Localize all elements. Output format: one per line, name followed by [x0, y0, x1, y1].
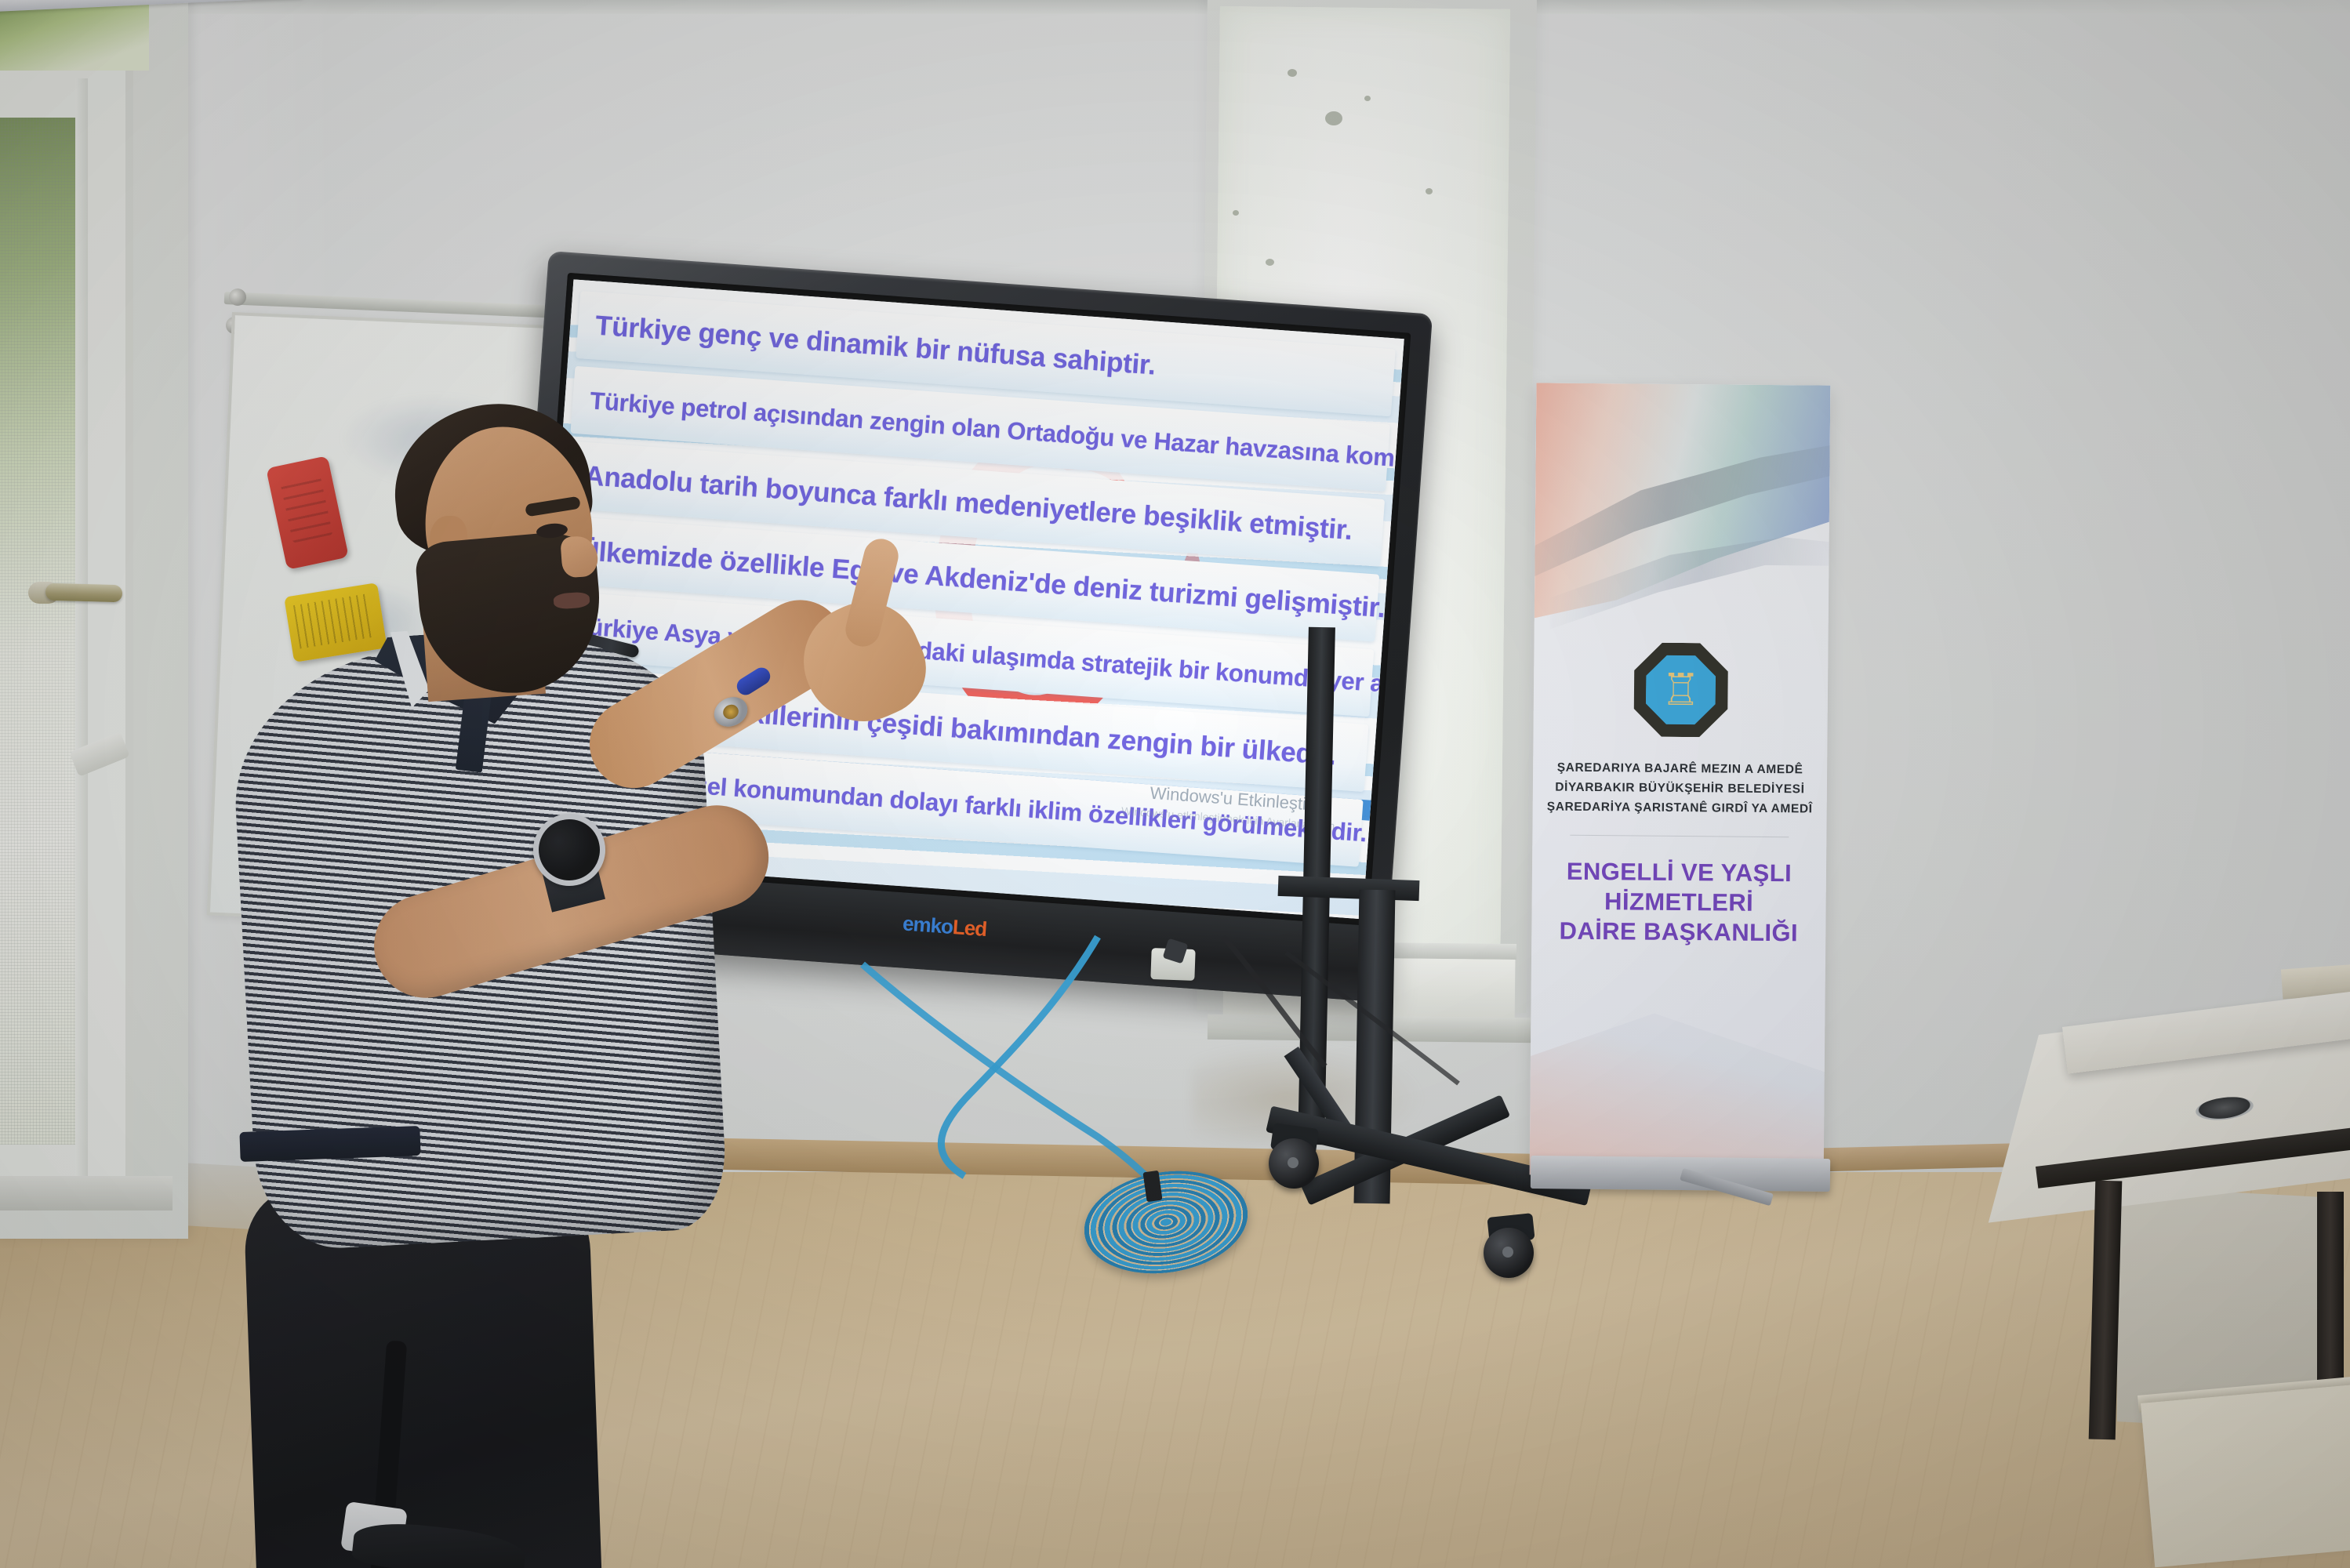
- emblem-eagle-icon: ♖: [1661, 668, 1701, 712]
- brand-em-text: emko: [902, 911, 953, 938]
- left-window-handle[interactable]: [45, 583, 123, 603]
- stand-caster: [1269, 1138, 1319, 1189]
- window-speck: [1233, 210, 1239, 216]
- whiteboard-rail-bolt: [229, 289, 246, 306]
- display-brand-logo: emkoLed: [902, 911, 987, 942]
- window-speck: [1426, 188, 1433, 194]
- left-window-mullion: [75, 78, 88, 1192]
- window-speck: [1325, 111, 1342, 125]
- left-window-transom-glass: [0, 0, 149, 71]
- double-headed-eagle-emblem: ♖: [1633, 642, 1728, 737]
- brand-led-text: Led: [952, 915, 987, 941]
- banner-bottom-swoosh: [1530, 955, 1825, 1177]
- window-speck: [1266, 259, 1274, 266]
- banner-base-cassette: [1531, 1156, 1830, 1192]
- photo-scene: Türkiye genç ve dinamik bir nüfusa sahip…: [0, 0, 2350, 1568]
- presenter-nose: [560, 535, 599, 578]
- left-window-glass: [0, 118, 83, 1145]
- foreground-desk-top: [2141, 1382, 2350, 1567]
- rollup-banner: ♖ ŞAREDARIYA BAJARÊ MEZIN A AMEDÊ DİYARB…: [1530, 383, 1831, 1177]
- presenter-sleeve-hem: [239, 1126, 420, 1162]
- banner-title-line: DAİRE BAŞKANLIĞI: [1531, 916, 1825, 948]
- window-speck: [1364, 96, 1371, 101]
- banner-subtitle-line: ŞAREDARIYA BAJARÊ MEZIN A AMEDÊ: [1533, 757, 1827, 779]
- banner-subtitle-line: ŞAREDARİYA ŞARISTANÊ GIRDÎ YA AMEDÎ: [1533, 797, 1827, 819]
- banner-divider: [1570, 835, 1789, 837]
- banner-title-line: HİZMETLERİ: [1531, 886, 1825, 918]
- banner-subtitle-block: ŞAREDARIYA BAJARÊ MEZIN A AMEDÊ DİYARBAK…: [1533, 757, 1828, 819]
- presenter: TTN: [118, 368, 902, 1568]
- banner-title-block: ENGELLİ VE YAŞLI HİZMETLERİ DAİRE BAŞKAN…: [1531, 856, 1826, 948]
- window-speck: [1288, 69, 1297, 77]
- banner-subtitle-line: DİYARBAKIR BÜYÜKŞEHİR BELEDİYESİ: [1533, 777, 1827, 799]
- stand-caster: [1484, 1228, 1534, 1278]
- banner-title-line: ENGELLİ VE YAŞLI: [1532, 856, 1826, 888]
